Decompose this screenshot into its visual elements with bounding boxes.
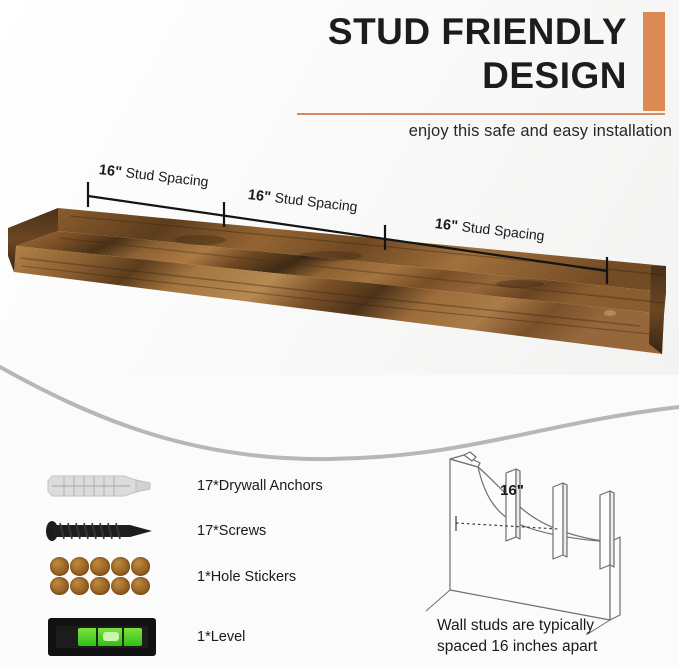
shelf-right-end [649,266,666,354]
accessory-label-screws: 17*Screws [197,523,266,539]
stud-diagram-caption: Wall studs are typically spaced 16 inche… [437,616,677,658]
accessory-row-anchors: 17*Drywall Anchors [40,463,323,509]
shelf-illustration [0,0,679,375]
hole-stickers-icon [40,553,162,601]
accessory-row-stickers: 1*Hole Stickers [40,553,296,601]
stud-dimension-label: 16" [500,482,524,499]
accessory-row-level: 1*Level [40,614,245,660]
drywall-anchor-icon [40,463,162,509]
measurement-value-2: 16" [247,187,272,206]
accessory-row-screws: 17*Screws [40,508,266,554]
accessory-label-anchors: 17*Drywall Anchors [197,478,323,494]
stud-caption-line-1: Wall studs are typically [437,616,677,637]
accessory-label-level: 1*Level [197,629,245,645]
screw-icon [40,508,162,554]
stud-caption-line-2: spaced 16 inches apart [437,637,677,658]
measurement-value-1: 16" [98,162,123,181]
product-infographic: STUD FRIENDLY DESIGN enjoy this safe and… [0,0,679,667]
accessory-label-stickers: 1*Hole Stickers [197,569,296,585]
measurement-value-3: 16" [434,216,459,235]
bubble-level-icon [40,614,162,660]
wall-stud-diagram: 16" [420,445,679,635]
